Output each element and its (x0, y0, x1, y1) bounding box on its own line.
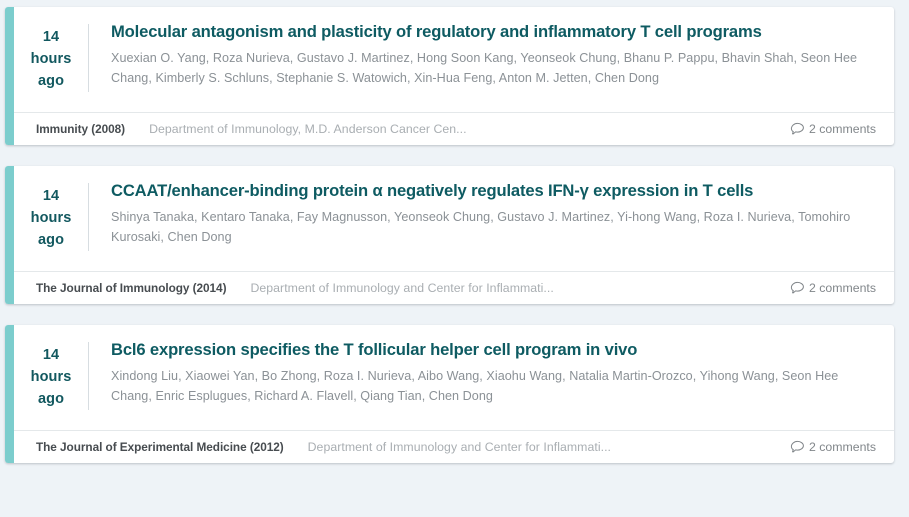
card-footer: The Journal of Experimental Medicine (20… (14, 430, 894, 463)
card-age-number: 14 (14, 26, 88, 48)
card-body: 14 hours ago CCAAT/enhancer-binding prot… (5, 166, 894, 271)
paper-authors: Xindong Liu, Xiaowei Yan, Bo Zhong, Roza… (111, 367, 876, 407)
comments-button[interactable]: 2 comments (790, 281, 876, 295)
card-text-column: CCAAT/enhancer-binding protein α negativ… (89, 180, 876, 248)
paper-feed: 14 hours ago Molecular antagonism and pl… (0, 0, 909, 463)
card-age-number: 14 (14, 185, 88, 207)
card-age-suffix: ago (14, 70, 88, 92)
journal-name[interactable]: Immunity (2008) (36, 122, 125, 136)
card-age-suffix: ago (14, 388, 88, 410)
card-body: 14 hours ago Molecular antagonism and pl… (5, 7, 894, 112)
paper-title-link[interactable]: Bcl6 expression specifies the T follicul… (111, 339, 876, 360)
affiliation-text: Department of Immunology and Center for … (308, 440, 778, 454)
paper-title-link[interactable]: Molecular antagonism and plasticity of r… (111, 21, 876, 42)
paper-title-link[interactable]: CCAAT/enhancer-binding protein α negativ… (111, 180, 876, 201)
paper-card[interactable]: 14 hours ago CCAAT/enhancer-binding prot… (5, 166, 894, 304)
card-age-number: 14 (14, 344, 88, 366)
journal-name[interactable]: The Journal of Immunology (2014) (36, 281, 226, 295)
paper-authors: Xuexian O. Yang, Roza Nurieva, Gustavo J… (111, 49, 876, 89)
card-age-suffix: ago (14, 229, 88, 251)
card-text-column: Bcl6 expression specifies the T follicul… (89, 339, 876, 407)
card-age-unit: hours (14, 366, 88, 388)
card-footer: The Journal of Immunology (2014) Departm… (14, 271, 894, 304)
comment-bubble-icon (790, 440, 805, 454)
paper-card[interactable]: 14 hours ago Molecular antagonism and pl… (5, 7, 894, 145)
affiliation-text: Department of Immunology and Center for … (250, 281, 778, 295)
card-age: 14 hours ago (14, 339, 88, 410)
comments-count-label: 2 comments (809, 122, 876, 136)
card-footer: Immunity (2008) Department of Immunology… (14, 112, 894, 145)
journal-name[interactable]: The Journal of Experimental Medicine (20… (36, 440, 284, 454)
comment-bubble-icon (790, 281, 805, 295)
card-age-unit: hours (14, 207, 88, 229)
comment-bubble-icon (790, 122, 805, 136)
card-body: 14 hours ago Bcl6 expression specifies t… (5, 325, 894, 430)
card-accent-bar (5, 7, 14, 145)
card-text-column: Molecular antagonism and plasticity of r… (89, 21, 876, 89)
comments-count-label: 2 comments (809, 281, 876, 295)
card-accent-bar (5, 325, 14, 463)
card-accent-bar (5, 166, 14, 304)
comments-button[interactable]: 2 comments (790, 122, 876, 136)
paper-card[interactable]: 14 hours ago Bcl6 expression specifies t… (5, 325, 894, 463)
paper-authors: Shinya Tanaka, Kentaro Tanaka, Fay Magnu… (111, 208, 876, 248)
comments-button[interactable]: 2 comments (790, 440, 876, 454)
card-age: 14 hours ago (14, 21, 88, 92)
card-age-unit: hours (14, 48, 88, 70)
card-age: 14 hours ago (14, 180, 88, 251)
comments-count-label: 2 comments (809, 440, 876, 454)
affiliation-text: Department of Immunology, M.D. Anderson … (149, 122, 778, 136)
